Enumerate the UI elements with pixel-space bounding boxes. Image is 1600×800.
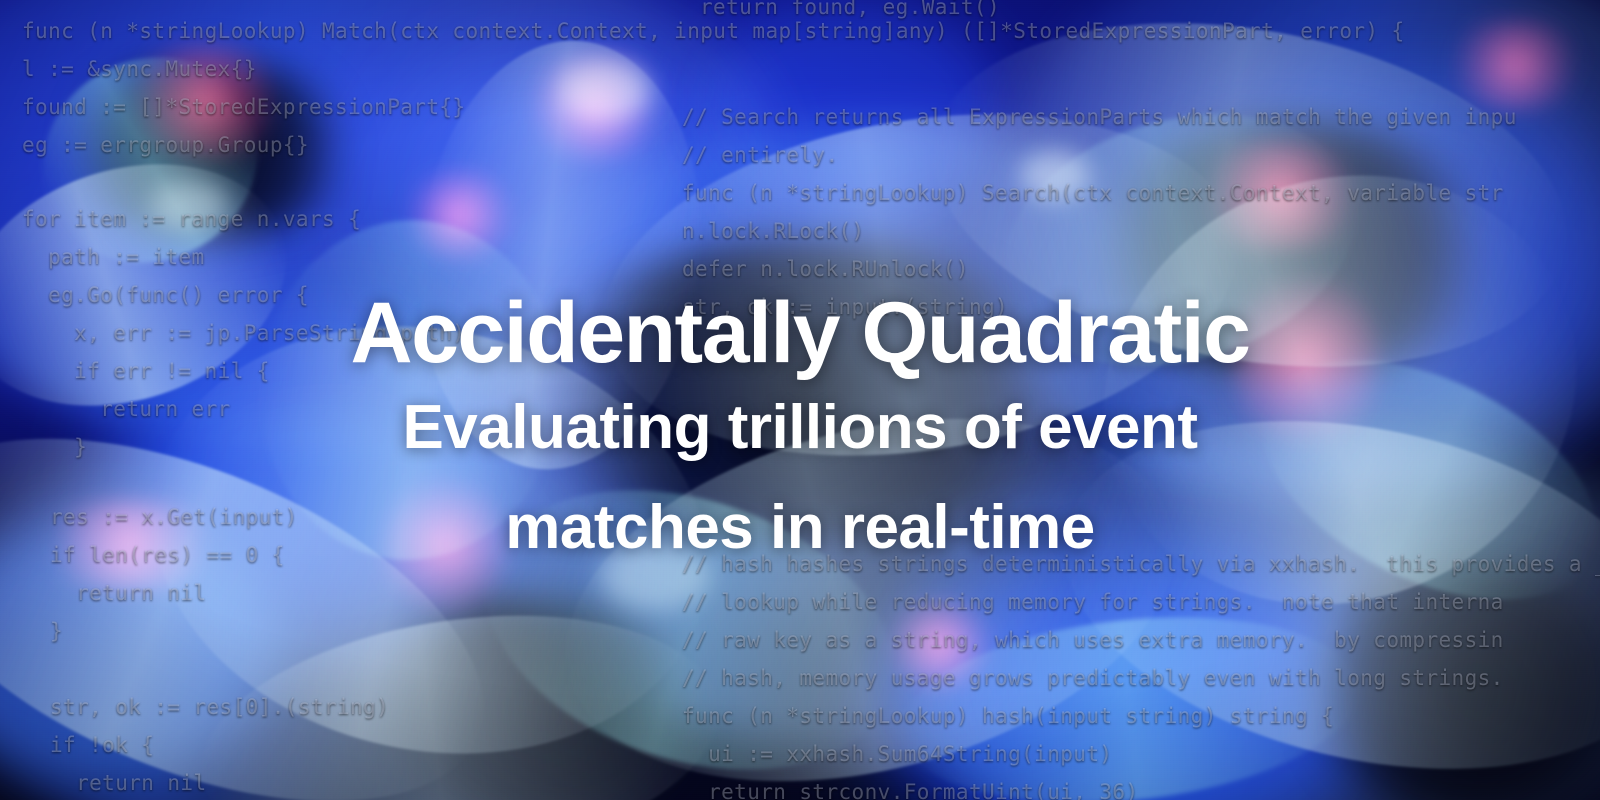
hero-banner: func (n *stringLookup) Match(ctx context… <box>0 0 1600 800</box>
background-vignette <box>0 0 1600 800</box>
abstract-background <box>0 0 1600 800</box>
